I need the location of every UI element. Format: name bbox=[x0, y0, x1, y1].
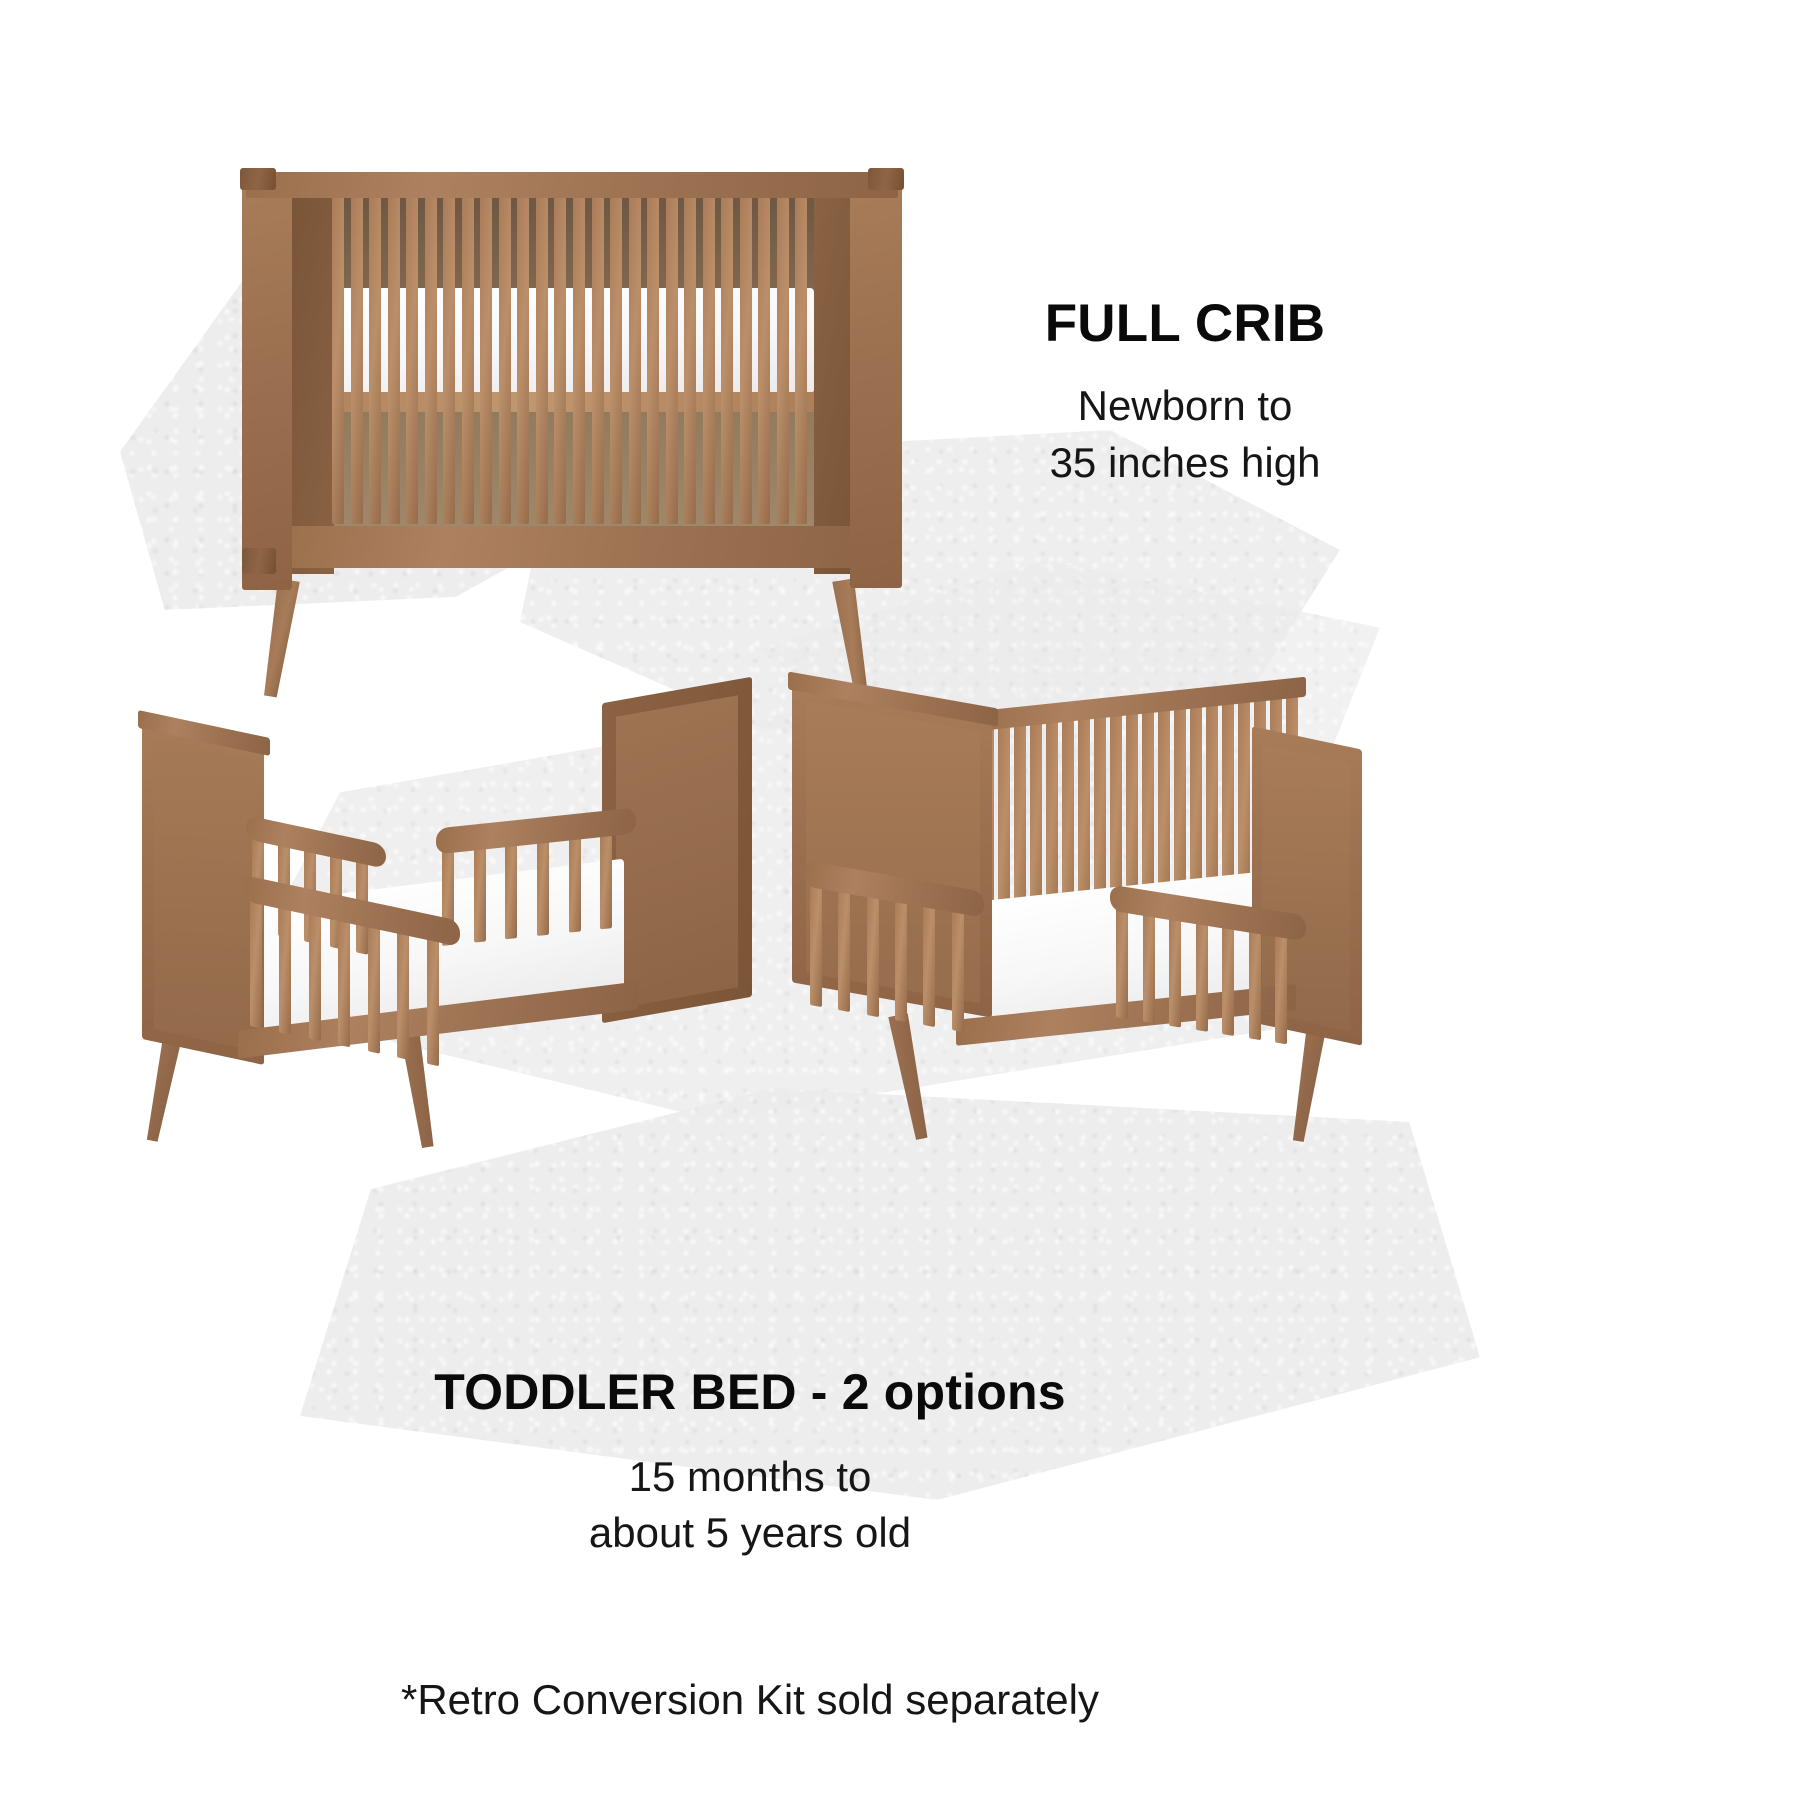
crib-top-cap-right bbox=[868, 168, 904, 190]
toddler-right-guard-slat bbox=[810, 883, 822, 1007]
toddler-bed-subtitle: 15 months to about 5 years old bbox=[300, 1449, 1200, 1562]
crib-slat bbox=[721, 194, 733, 524]
crib-slat bbox=[332, 194, 344, 524]
crib-top-rail bbox=[246, 172, 898, 198]
crib-slat bbox=[351, 194, 363, 524]
toddler-right-guard-slat bbox=[1143, 911, 1155, 1023]
infographic-canvas: FULL CRIB Newborn to 35 inches high TODD… bbox=[0, 0, 1800, 1800]
crib-inner-panel-left bbox=[288, 194, 334, 574]
crib-slat bbox=[443, 194, 455, 524]
toddler-left-guard-slat bbox=[600, 832, 612, 929]
toddler-bed-text-block: TODDLER BED - 2 options 15 months to abo… bbox=[300, 1365, 1200, 1562]
crib-slat bbox=[425, 194, 437, 524]
crib-slat bbox=[777, 194, 789, 524]
crib-slat bbox=[610, 194, 622, 524]
crib-leg-left bbox=[260, 578, 300, 698]
toddler-right-guard-slat bbox=[1116, 907, 1128, 1019]
crib-slat bbox=[795, 194, 807, 524]
crib-slat bbox=[684, 194, 696, 524]
crib-slat bbox=[462, 194, 474, 524]
full-crib-text-block: FULL CRIB Newborn to 35 inches high bbox=[905, 295, 1465, 491]
toddler-left-guard-slat bbox=[338, 917, 350, 1048]
toddler-left-head-panel-inner bbox=[154, 737, 254, 1050]
crib-slat bbox=[740, 194, 752, 524]
crib-slat bbox=[369, 194, 381, 524]
toddler-bed-option-two-image bbox=[780, 672, 1370, 1162]
toddler-right-guard-slat bbox=[923, 903, 935, 1027]
crib-slat bbox=[703, 194, 715, 524]
crib-top-cap-left bbox=[240, 168, 276, 190]
toddler-left-guard-slat bbox=[397, 929, 409, 1060]
toddler-left-guard-slat bbox=[279, 904, 291, 1035]
toddler-right-guard-slat bbox=[1196, 920, 1208, 1032]
crib-slat bbox=[499, 194, 511, 524]
crib-slat bbox=[592, 194, 604, 524]
toddler-right-guard-slat bbox=[838, 888, 850, 1012]
crib-slat bbox=[629, 194, 641, 524]
crib-slat bbox=[536, 194, 548, 524]
toddler-left-guard-slat bbox=[569, 835, 581, 932]
crib-end-panel-right bbox=[850, 186, 902, 588]
toddler-right-guard-slat bbox=[1249, 928, 1261, 1040]
toddler-bed-heading: TODDLER BED - 2 options bbox=[300, 1365, 1200, 1419]
toddler-right-guard-slat bbox=[1222, 924, 1234, 1036]
crib-slat bbox=[573, 194, 585, 524]
crib-slats bbox=[332, 194, 814, 524]
toddler-right-guard-slat bbox=[1169, 916, 1181, 1028]
toddler-right-guard-slat bbox=[867, 893, 879, 1017]
full-crib-heading: FULL CRIB bbox=[905, 295, 1465, 352]
full-crib-subtitle-line-1: Newborn to bbox=[905, 378, 1465, 434]
crib-slat bbox=[480, 194, 492, 524]
toddler-right-leg-front bbox=[888, 1013, 932, 1141]
toddler-left-guard-slat bbox=[427, 936, 439, 1067]
crib-slat bbox=[647, 194, 659, 524]
footnote-text: *Retro Conversion Kit sold separately bbox=[300, 1672, 1200, 1728]
toddler-left-guard-slat bbox=[474, 845, 486, 942]
toddler-bed-option-one-image bbox=[126, 690, 766, 1160]
crib-end-panel-left bbox=[242, 186, 292, 590]
toddler-left-guard-slat bbox=[250, 898, 262, 1029]
toddler-left-guard-slat bbox=[505, 842, 517, 939]
toddler-bed-subtitle-line-1: 15 months to bbox=[300, 1449, 1200, 1505]
toddler-left-guard-slat bbox=[309, 911, 321, 1042]
crib-slat bbox=[406, 194, 418, 524]
crib-slat bbox=[554, 194, 566, 524]
crib-bottom-cap-left bbox=[242, 548, 276, 574]
toddler-left-guard-slat bbox=[368, 923, 380, 1054]
toddler-left-guard-slat bbox=[537, 839, 549, 936]
toddler-right-guard-slat bbox=[1275, 933, 1287, 1045]
crib-slat bbox=[758, 194, 770, 524]
full-crib-subtitle-line-2: 35 inches high bbox=[905, 435, 1465, 491]
crib-base-rail bbox=[278, 526, 876, 568]
toddler-left-far-panel-inner bbox=[616, 695, 738, 1009]
footnote-block: *Retro Conversion Kit sold separately bbox=[300, 1672, 1200, 1728]
full-crib-subtitle: Newborn to 35 inches high bbox=[905, 378, 1465, 491]
crib-slat bbox=[388, 194, 400, 524]
toddler-bed-subtitle-line-2: about 5 years old bbox=[300, 1505, 1200, 1561]
full-crib-image bbox=[232, 160, 912, 620]
toddler-right-guard-slat bbox=[952, 908, 964, 1032]
crib-slat bbox=[666, 194, 678, 524]
toddler-right-guard-slat bbox=[895, 898, 907, 1022]
crib-inner-panel-right bbox=[814, 194, 854, 574]
crib-slat bbox=[517, 194, 529, 524]
